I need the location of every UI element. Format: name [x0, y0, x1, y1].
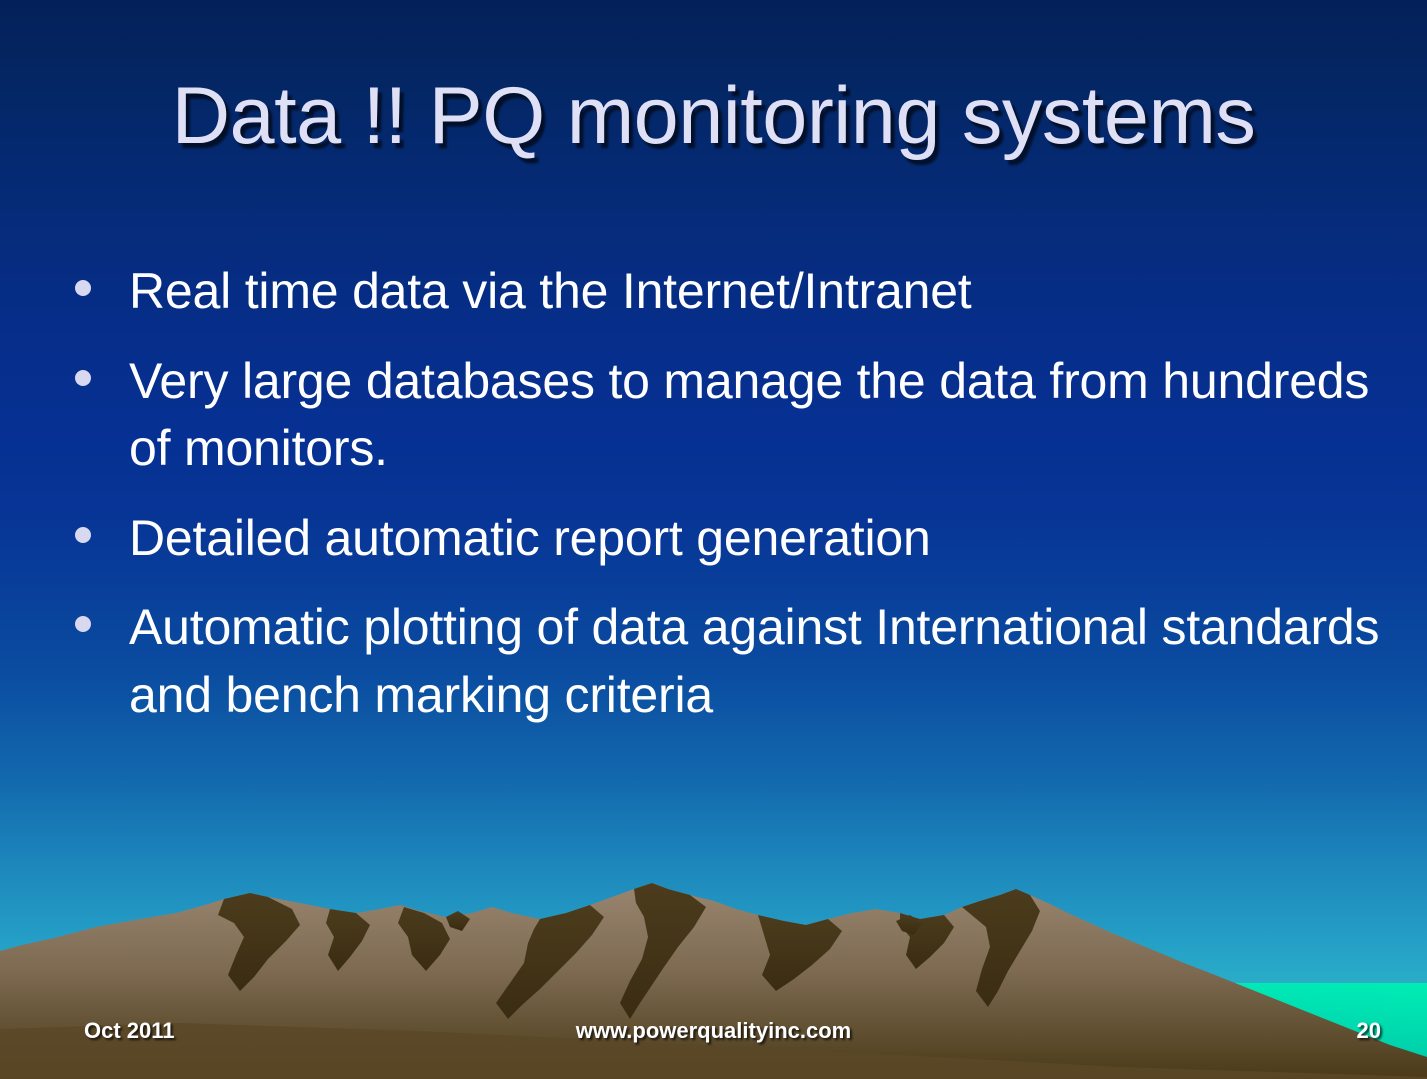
list-item: Real time data via the Internet/Intranet: [75, 258, 1395, 326]
bullet-text: Automatic plotting of data against Inter…: [129, 594, 1395, 729]
list-item: Detailed automatic report generation: [75, 505, 1395, 573]
slide-title: Data !! PQ monitoring systems: [0, 76, 1427, 157]
slide-footer: Oct 2011 www.powerqualityinc.com 20: [0, 1018, 1427, 1058]
list-item: Automatic plotting of data against Inter…: [75, 594, 1395, 729]
bullet-dot-icon: [75, 370, 91, 386]
footer-page-number: 20: [0, 1018, 1381, 1044]
bullet-text: Very large databases to manage the data …: [129, 348, 1395, 483]
bullet-dot-icon: [75, 280, 91, 296]
bullet-text: Detailed automatic report generation: [129, 505, 1395, 573]
bullet-dot-icon: [75, 527, 91, 543]
bullet-dot-icon: [75, 616, 91, 632]
bullet-list: Real time data via the Internet/Intranet…: [75, 258, 1395, 751]
presentation-slide: Data !! PQ monitoring systems Real time …: [0, 0, 1427, 1079]
list-item: Very large databases to manage the data …: [75, 348, 1395, 483]
bullet-text: Real time data via the Internet/Intranet: [129, 258, 1395, 326]
